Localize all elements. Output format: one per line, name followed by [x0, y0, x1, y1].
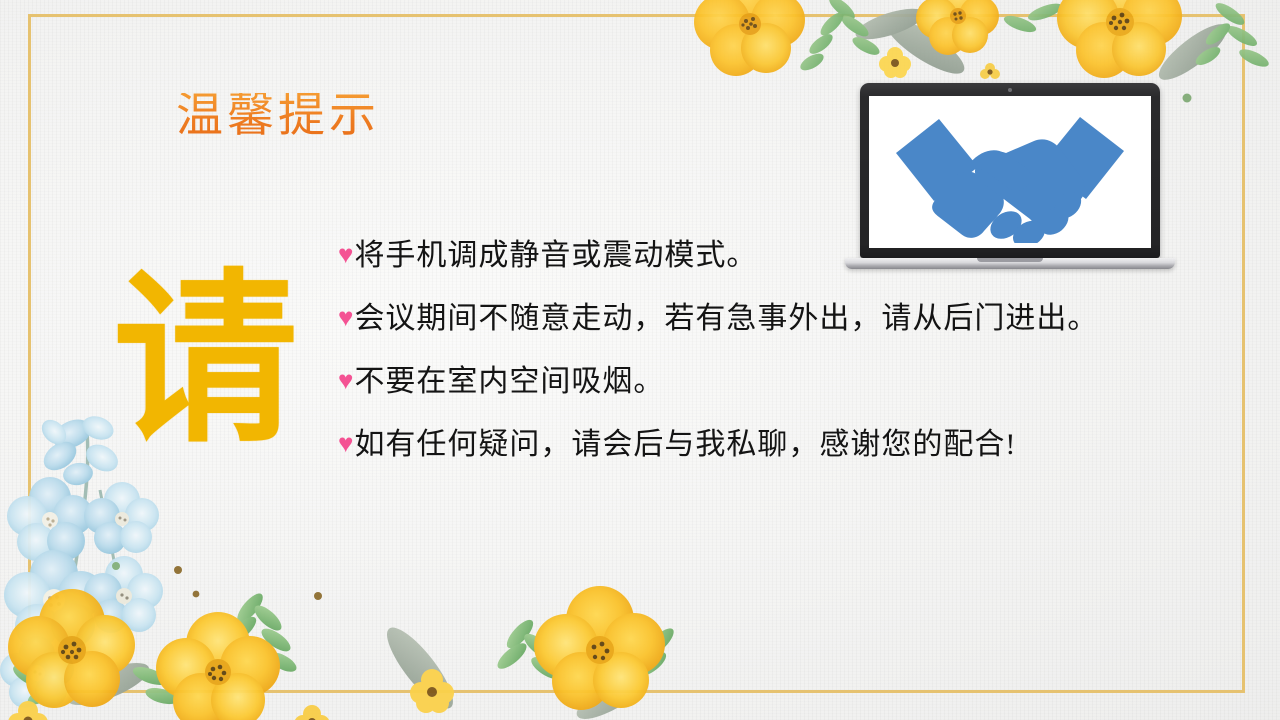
handshake-icon: [884, 101, 1136, 243]
list-item: ♥将手机调成静音或震动模式。: [338, 224, 1210, 287]
heart-bullet-icon: ♥: [338, 303, 353, 332]
slide-canvas: 温馨提示 请: [0, 0, 1280, 720]
list-item: ♥不要在室内空间吸烟。: [338, 350, 1210, 413]
notice-list: ♥将手机调成静音或震动模式。 ♥会议期间不随意走动，若有急事外出，请从后门进出。…: [338, 224, 1210, 476]
notice-text: 会议期间不随意走动，若有急事外出，请从后门进出。: [354, 302, 1098, 335]
notice-text: 如有任何疑问，请会后与我私聊，感谢您的配合!: [354, 428, 1016, 461]
heart-bullet-icon: ♥: [338, 240, 353, 269]
heart-bullet-icon: ♥: [338, 366, 353, 395]
large-qing-character: 请: [113, 268, 298, 453]
list-item: ♥如有任何疑问，请会后与我私聊，感谢您的配合!: [338, 413, 1210, 476]
list-item: ♥会议期间不随意走动，若有急事外出，请从后门进出。: [338, 287, 1210, 350]
notice-text: 将手机调成静音或震动模式。: [354, 239, 757, 272]
notice-text: 不要在室内空间吸烟。: [354, 365, 664, 398]
page-title: 温馨提示: [176, 93, 380, 140]
heart-bullet-icon: ♥: [338, 429, 353, 458]
webcam-icon: [1008, 88, 1012, 92]
